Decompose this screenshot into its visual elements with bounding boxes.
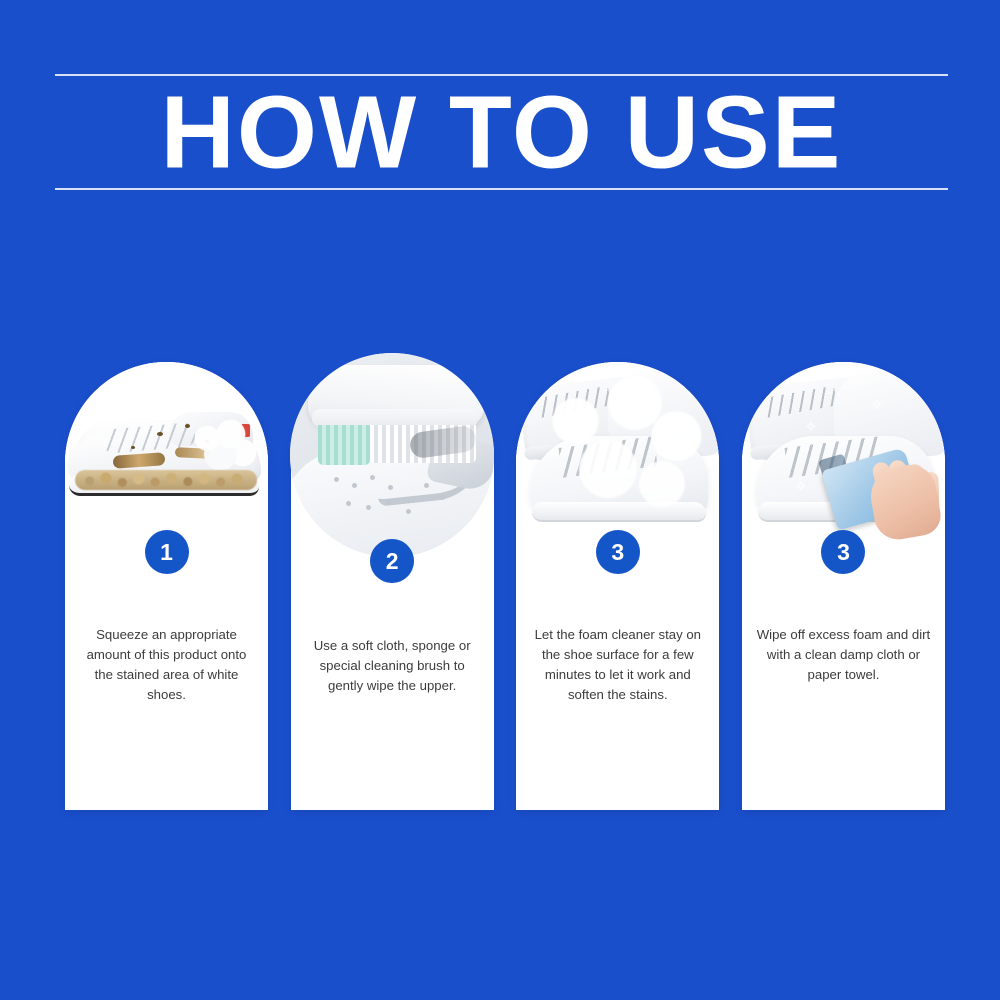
- step-4-caption: Wipe off excess foam and dirt with a cle…: [753, 625, 934, 685]
- step-3-caption: Let the foam cleaner stay on the shoe su…: [527, 625, 708, 705]
- step-2-caption: Use a soft cloth, sponge or special clea…: [302, 636, 483, 696]
- step-3-badge: 3: [596, 530, 640, 574]
- steps-container: 1 Squeeze an appropriate amount of this …: [65, 362, 945, 812]
- step-card-1[interactable]: 1 Squeeze an appropriate amount of this …: [65, 362, 268, 810]
- step-card-2[interactable]: 2 Use a soft cloth, sponge or special cl…: [291, 362, 494, 810]
- page-header: HOW TO USE: [55, 74, 948, 190]
- header-divider-bottom: [55, 188, 948, 190]
- step-4-badge: 3: [821, 530, 865, 574]
- step-2-image: [290, 353, 494, 557]
- step-card-3[interactable]: 3 Let the foam cleaner stay on the shoe …: [516, 362, 719, 810]
- foam-overlay: [536, 376, 716, 526]
- page-title: HOW TO USE: [55, 81, 948, 184]
- step-1-badge: 1: [145, 530, 189, 574]
- step-card-4[interactable]: ✧ ✧ ✧ 3 Wipe off excess foam and dirt wi…: [742, 362, 945, 810]
- step-2-badge: 2: [370, 539, 414, 583]
- cleaning-brush-illustration: [290, 353, 494, 557]
- step-1-caption: Squeeze an appropriate amount of this pr…: [76, 625, 257, 705]
